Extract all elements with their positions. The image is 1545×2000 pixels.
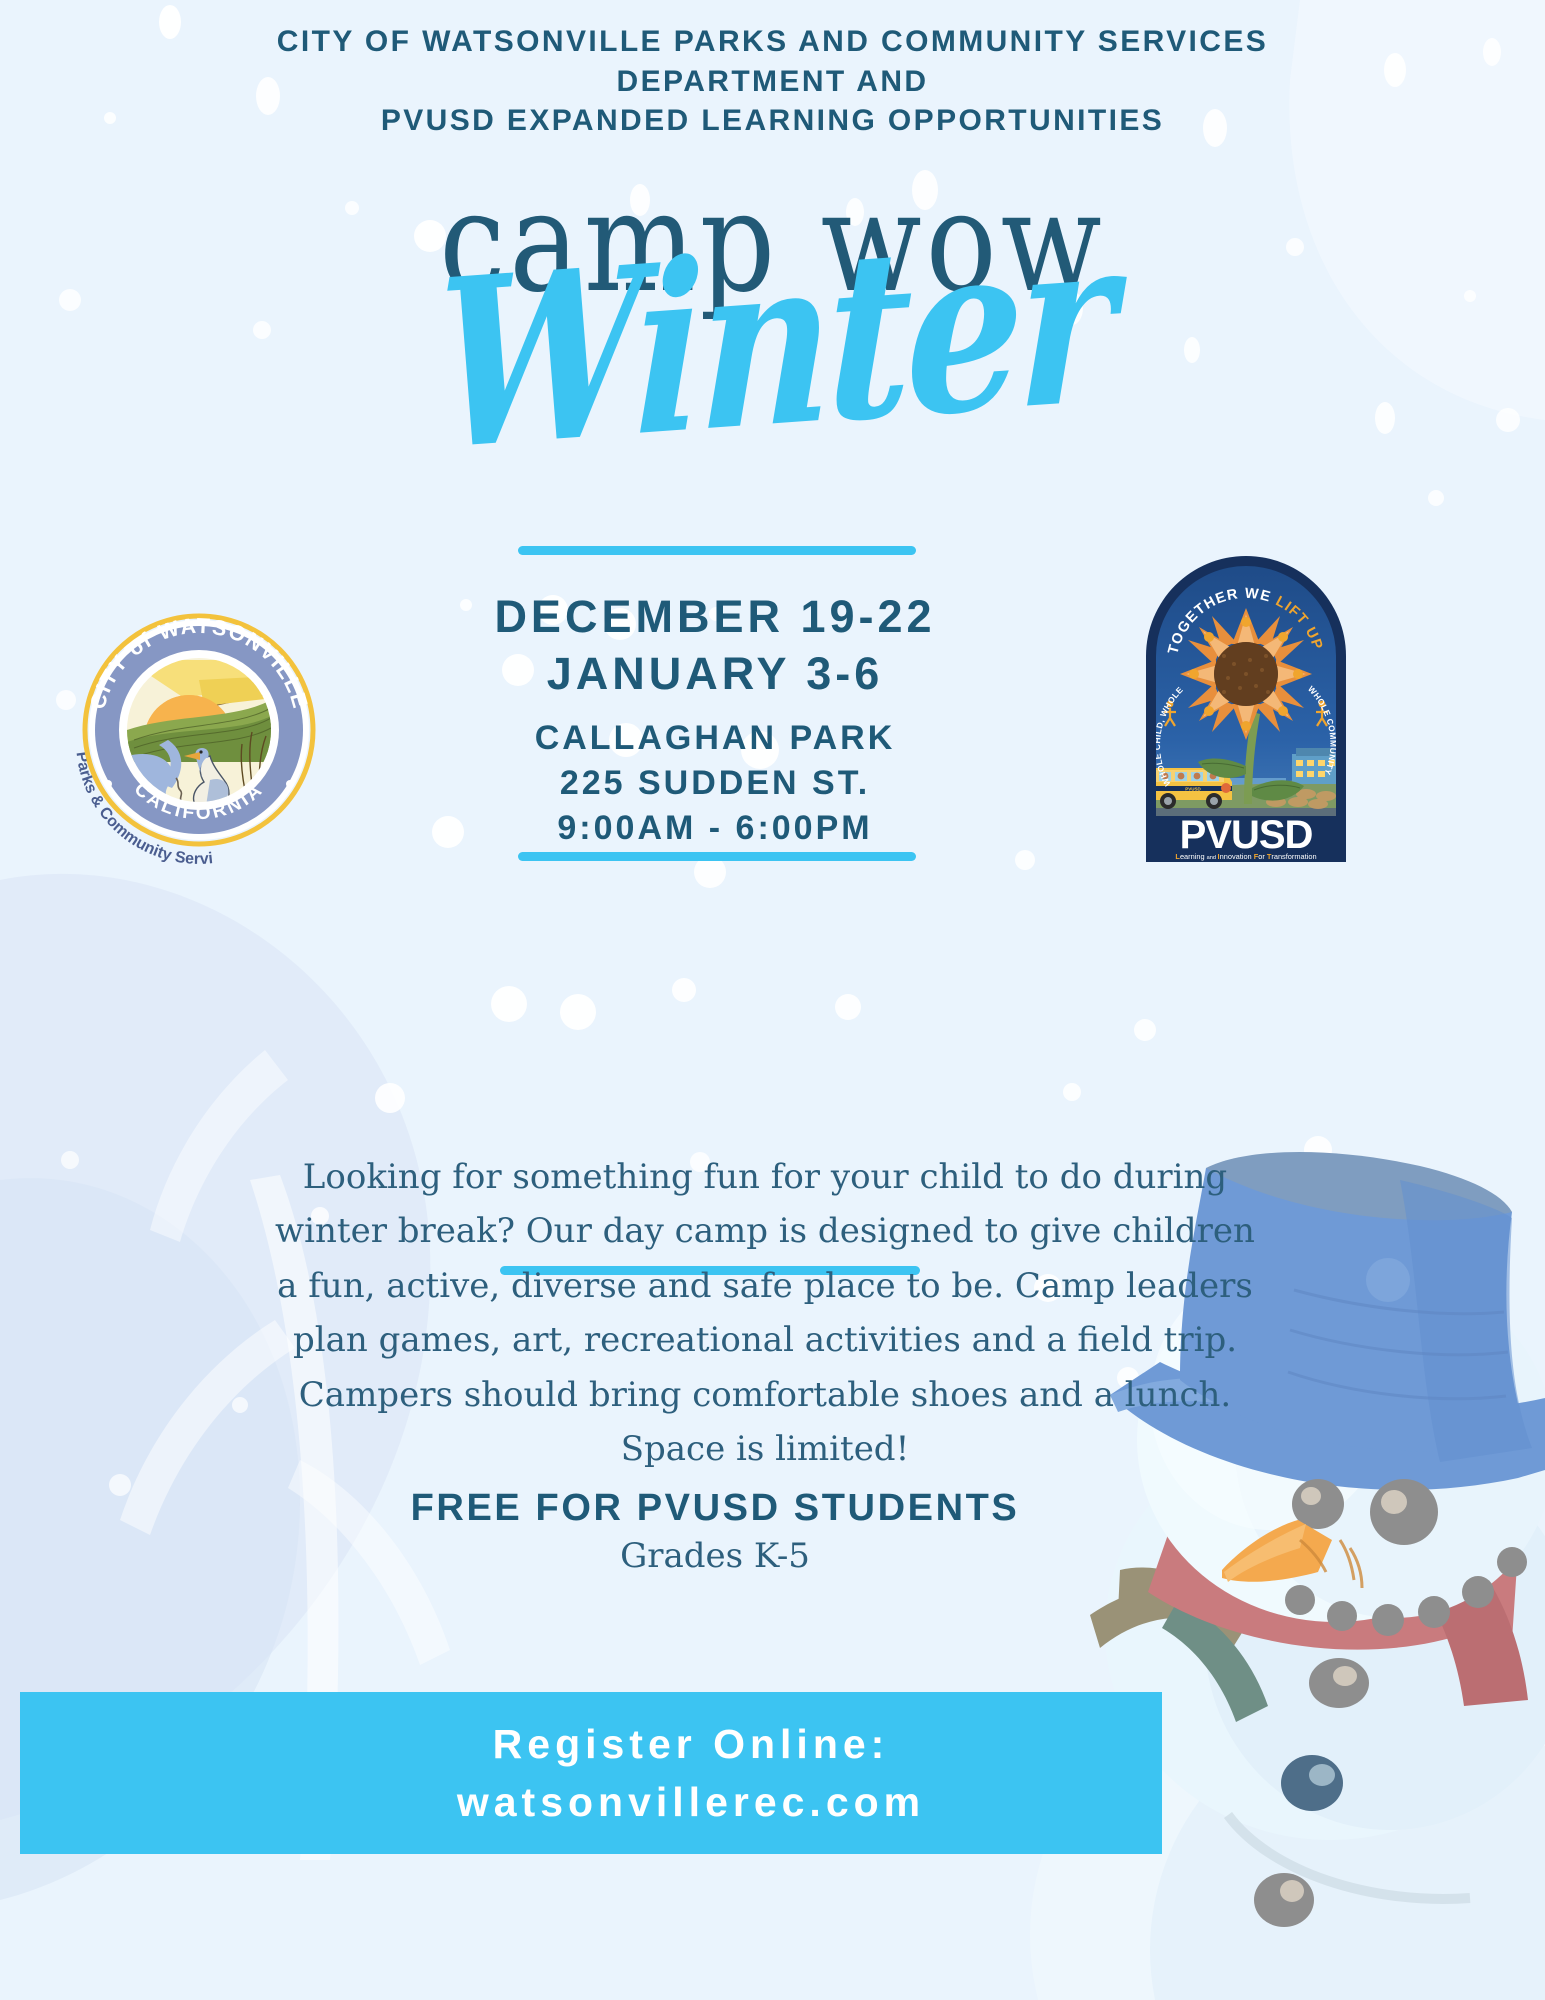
description-paragraph: Looking for something fun for your child… bbox=[210, 1150, 1320, 1476]
divider-top bbox=[518, 546, 916, 555]
description-line-5: Campers should bring comfortable shoes a… bbox=[210, 1368, 1320, 1422]
pvusd-logo: PVUSD bbox=[1146, 556, 1346, 862]
pvusd-bus-label: PVUSD bbox=[1185, 786, 1201, 791]
description-line-3: a fun, active, diverse and safe place to… bbox=[210, 1259, 1320, 1313]
divider-middle bbox=[518, 852, 916, 861]
event-date-december: DECEMBER 19-22 bbox=[310, 588, 1120, 645]
free-headline: FREE FOR PVUSD STUDENTS bbox=[310, 1487, 1120, 1530]
description-line-6: Space is limited! bbox=[210, 1422, 1320, 1476]
title-camp-wow: camp wow bbox=[0, 172, 1545, 311]
pricing-block: FREE FOR PVUSD STUDENTS Grades K-5 bbox=[310, 1487, 1120, 1576]
register-url[interactable]: watsonvillerec.com bbox=[457, 1773, 925, 1831]
header-line-1: CITY OF WATSONVILLE PARKS AND COMMUNITY … bbox=[0, 22, 1545, 62]
city-of-watsonville-logo: Parks & Community Services bbox=[64, 580, 334, 880]
description-line-2: winter break? Our day camp is designed t… bbox=[210, 1204, 1320, 1258]
description-line-1: Looking for something fun for your child… bbox=[210, 1150, 1320, 1204]
pvusd-tagline: Learning and Innovation For Transformati… bbox=[1175, 852, 1316, 861]
description-line-4: plan games, art, recreational activities… bbox=[210, 1313, 1320, 1367]
event-venue: CALLAGHAN PARK bbox=[310, 716, 1120, 761]
event-hours: 9:00AM - 6:00PM bbox=[310, 806, 1120, 851]
register-label: Register Online: bbox=[493, 1715, 890, 1773]
event-address: 225 SUDDEN ST. bbox=[310, 761, 1120, 806]
grades-subtitle: Grades K-5 bbox=[310, 1536, 1120, 1576]
event-info-block: DECEMBER 19-22 JANUARY 3-6 CALLAGHAN PAR… bbox=[310, 588, 1120, 851]
event-date-january: JANUARY 3-6 bbox=[310, 645, 1120, 702]
register-banner-text: Register Online: watsonvillerec.com bbox=[220, 1692, 1162, 1854]
flyer-poster: CITY OF WATSONVILLE PARKS AND COMMUNITY … bbox=[0, 0, 1545, 2000]
header-line-3: PVUSD EXPANDED LEARNING OPPORTUNITIES bbox=[0, 101, 1545, 141]
flyer-header: CITY OF WATSONVILLE PARKS AND COMMUNITY … bbox=[0, 22, 1545, 141]
header-line-2: DEPARTMENT AND bbox=[0, 62, 1545, 102]
